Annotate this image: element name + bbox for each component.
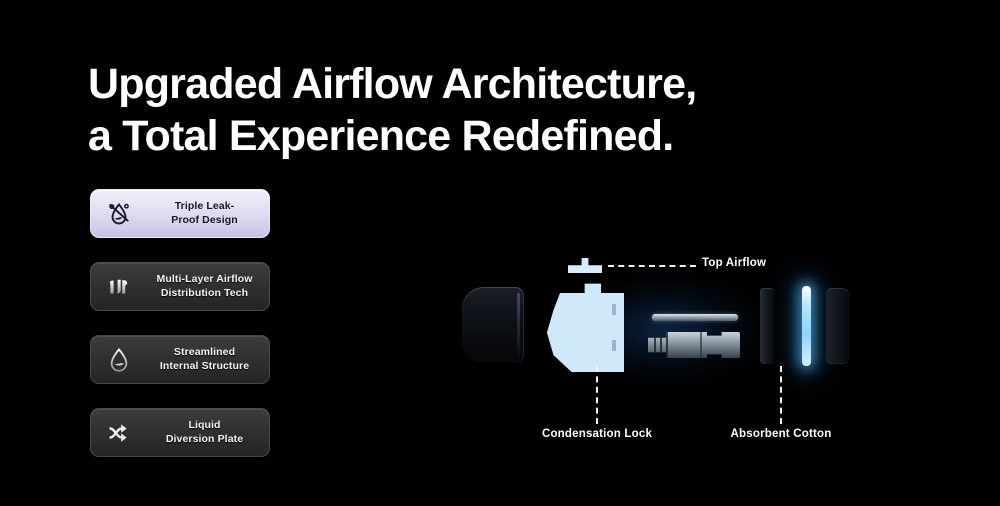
- exploded-device-diagram: Top Airflow Condensation Lock Absorbent …: [430, 236, 900, 466]
- page-title: Upgraded Airflow Architecture, a Total E…: [88, 6, 908, 214]
- feature-label-line-1: Multi-Layer Airflow: [156, 273, 252, 285]
- crossing-arrows-icon: [91, 408, 147, 457]
- feature-label-line-1: Streamlined: [174, 346, 235, 358]
- lock-slot: [612, 304, 616, 315]
- callout-label-absorbent-cotton: Absorbent Cotton: [731, 428, 832, 440]
- feature-pill-streamlined-internal-structure[interactable]: Streamlined Internal Structure: [90, 335, 270, 384]
- coil-ring: [700, 332, 702, 358]
- feature-label-line-1: Liquid: [188, 419, 220, 431]
- feature-pill-liquid-diversion-plate[interactable]: Liquid Diversion Plate: [90, 408, 270, 457]
- no-leak-droplet-icon: [91, 189, 147, 238]
- feature-pill-triple-leak-proof-design[interactable]: Triple Leak- Proof Design: [90, 189, 270, 238]
- feature-label-line-1: Triple Leak-: [175, 200, 235, 212]
- top-airflow-leader-line: [608, 265, 696, 267]
- feature-pill-label: Triple Leak- Proof Design: [147, 200, 269, 227]
- absorbent-cotton-leader-line: [780, 366, 782, 424]
- feature-pill-label: Streamlined Internal Structure: [147, 346, 269, 373]
- feature-pill-label: Multi-Layer Airflow Distribution Tech: [147, 273, 269, 300]
- feature-list: Triple Leak- Proof Design Multi: [90, 189, 272, 481]
- callout-label-condensation-lock: Condensation Lock: [542, 428, 652, 440]
- feature-pill-label: Liquid Diversion Plate: [147, 419, 269, 446]
- feature-pill-multi-layer-airflow-distribution-tech[interactable]: Multi-Layer Airflow Distribution Tech: [90, 262, 270, 311]
- lock-slot: [612, 340, 616, 351]
- sealing-plate-part: [760, 288, 774, 364]
- callout-label-top-airflow: Top Airflow: [702, 257, 766, 269]
- airflow-tube-part: [652, 314, 738, 321]
- product-feature-panel: Upgraded Airflow Architecture, a Total E…: [0, 0, 1000, 506]
- condensation-lock-leader-line: [596, 366, 598, 424]
- headline-line-2: a Total Experience Redefined.: [88, 110, 908, 162]
- end-cap-part: [826, 288, 850, 364]
- mouthpiece-shell-part: [462, 287, 524, 363]
- absorbent-cotton-strip-part: [802, 286, 811, 366]
- feature-label-line-2: Proof Design: [171, 214, 238, 226]
- headline-line-1: Upgraded Airflow Architecture,: [88, 60, 696, 108]
- feature-label-line-2: Diversion Plate: [166, 433, 243, 445]
- feature-label-line-2: Distribution Tech: [161, 287, 248, 299]
- feature-label-line-2: Internal Structure: [160, 360, 249, 372]
- airflow-streams-icon: [91, 262, 147, 311]
- droplet-icon: [91, 335, 147, 384]
